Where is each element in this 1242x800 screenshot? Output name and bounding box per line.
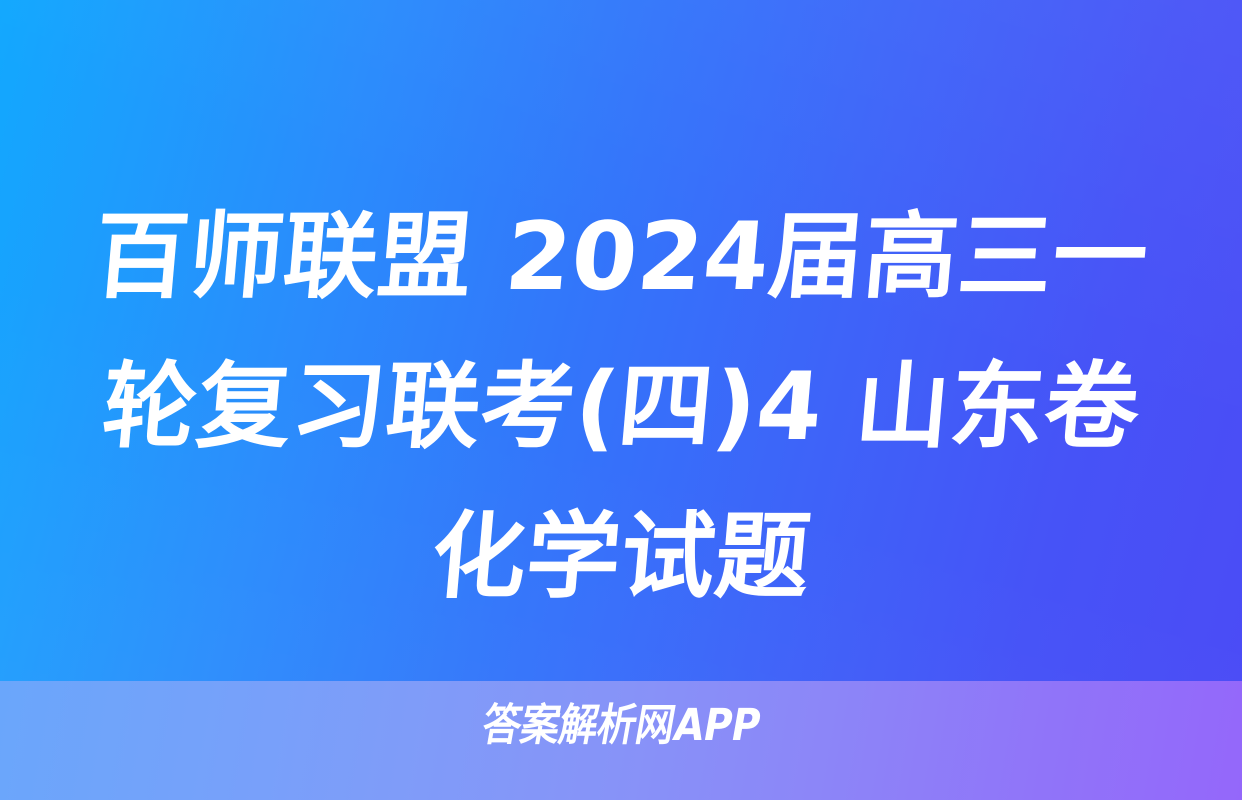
title-line-1: 百师联盟 2024届高三一 bbox=[67, 183, 1174, 333]
title-line-2: 轮复习联考(四)4 山东卷 bbox=[67, 333, 1174, 483]
cover-card: 百师联盟 2024届高三一 轮复习联考(四)4 山东卷 化学试题 答案解析网AP… bbox=[0, 0, 1242, 800]
watermark: 答案解析网APP bbox=[0, 700, 1242, 752]
page-title: 百师联盟 2024届高三一 轮复习联考(四)4 山东卷 化学试题 bbox=[74, 183, 1168, 633]
title-line-3: 化学试题 bbox=[67, 483, 1174, 633]
watermark-label: 答案解析网APP bbox=[478, 700, 764, 752]
